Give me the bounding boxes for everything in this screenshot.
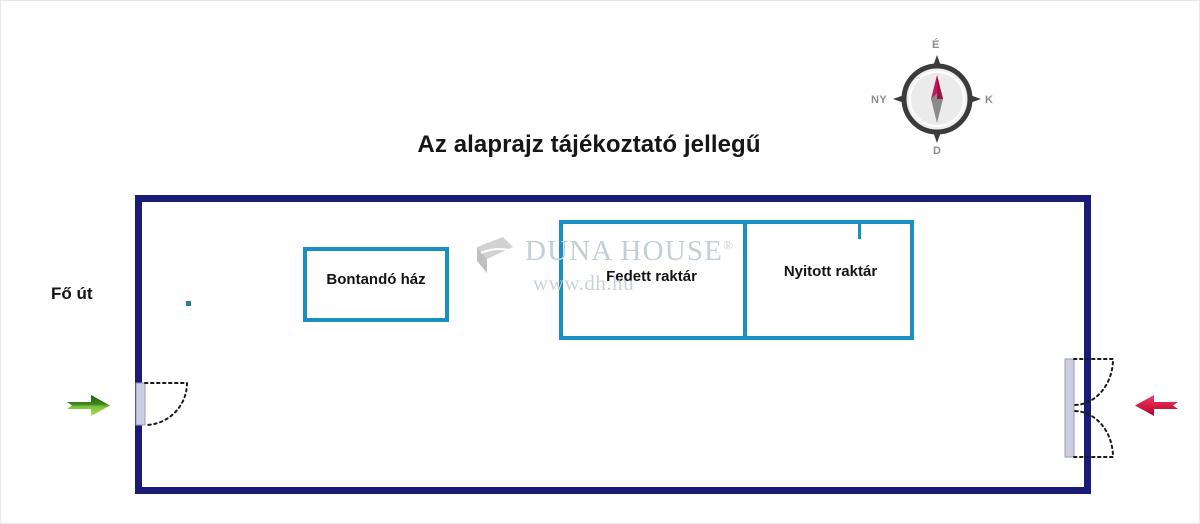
gate-left xyxy=(135,377,193,445)
room-label-fedett-raktar: Fedett raktár xyxy=(559,268,744,285)
compass-label-east: K xyxy=(985,94,993,106)
street-label-fo-ut: Fő út xyxy=(51,284,93,304)
compass-label-north: É xyxy=(932,39,940,51)
entry-arrow-left-icon xyxy=(67,393,111,418)
floor-plan-canvas: Az alaprajz tájékoztató jellegű É K D NY… xyxy=(0,0,1200,524)
compass-label-south: D xyxy=(933,145,941,157)
gate-right-swing-icon xyxy=(1063,357,1119,459)
compass-rose: É K D NY xyxy=(863,37,1011,161)
room-label-bontando-haz: Bontandó ház xyxy=(303,271,449,288)
warehouse-opening-tick xyxy=(858,222,861,239)
gate-right xyxy=(1063,357,1119,459)
gate-left-swing-icon xyxy=(135,377,193,445)
page-title: Az alaprajz tájékoztató jellegű xyxy=(379,131,799,159)
compass-label-west: NY xyxy=(871,94,887,106)
entry-arrow-right-icon xyxy=(1134,393,1178,418)
survey-point-marker xyxy=(186,301,191,306)
room-label-nyitott-raktar: Nyitott raktár xyxy=(747,263,914,280)
